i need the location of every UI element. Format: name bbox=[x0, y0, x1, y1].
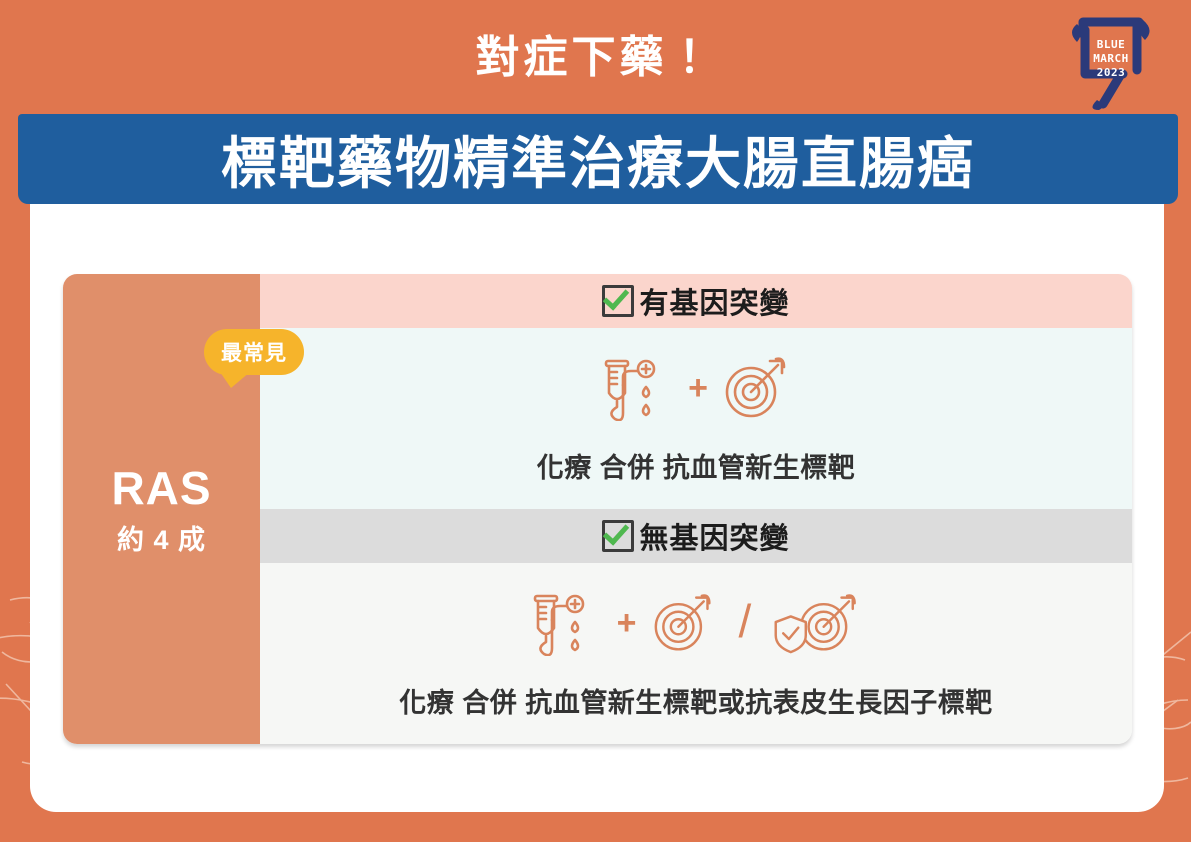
treatment-icons-wild-type: + / bbox=[527, 587, 866, 659]
iv-drip-icon bbox=[598, 355, 676, 421]
kicker-text: 對症下藥！ bbox=[0, 34, 1191, 82]
page-title: 標靶藥物精準治療大腸直腸癌 bbox=[221, 119, 975, 200]
logo-line-1: BLUE bbox=[1063, 38, 1159, 52]
treatment-rows: 有基因突變 + bbox=[260, 274, 1132, 744]
treatment-icons-mutated: + bbox=[598, 352, 794, 424]
title-bar: 標靶藥物精準治療大腸直腸癌 bbox=[18, 114, 1178, 204]
treatment-text-mutated: 化療 合併 抗血管新生標靶 bbox=[537, 446, 856, 485]
slash-icon: / bbox=[729, 598, 762, 644]
logo-line-3: 2023 bbox=[1063, 66, 1159, 80]
badge-label: 最常見 bbox=[221, 337, 287, 367]
logo-text: BLUE MARCH 2023 bbox=[1063, 38, 1159, 80]
shield-target-arrow-icon bbox=[771, 592, 865, 654]
row-body-wild-type: + / bbox=[260, 563, 1132, 744]
row-header-wild-type: 無基因突變 bbox=[260, 509, 1132, 563]
gene-name: RAS bbox=[111, 465, 211, 511]
checked-checkbox-icon bbox=[602, 285, 634, 317]
target-arrow-icon bbox=[720, 355, 794, 421]
plus-icon: + bbox=[686, 371, 710, 405]
row-body-mutated: + 化療 合併 抗血管新生標靶 bbox=[260, 328, 1132, 509]
checked-checkbox-icon bbox=[602, 520, 634, 552]
plus-icon: + bbox=[615, 606, 639, 640]
treatment-text-wild-type: 化療 合併 抗血管新生標靶或抗表皮生長因子標靶 bbox=[399, 681, 993, 720]
row-header-label: 有基因突變 bbox=[639, 280, 789, 322]
blue-march-logo: BLUE MARCH 2023 bbox=[1063, 12, 1159, 112]
most-common-badge: 最常見 bbox=[204, 329, 304, 375]
iv-drip-icon bbox=[527, 590, 605, 656]
logo-line-2: MARCH bbox=[1063, 52, 1159, 66]
row-header-label: 無基因突變 bbox=[639, 515, 789, 557]
gene-share: 約 4 成 bbox=[117, 527, 206, 554]
row-header-mutated: 有基因突變 bbox=[260, 274, 1132, 328]
target-arrow-icon bbox=[649, 592, 719, 654]
badge-tail bbox=[220, 372, 250, 388]
